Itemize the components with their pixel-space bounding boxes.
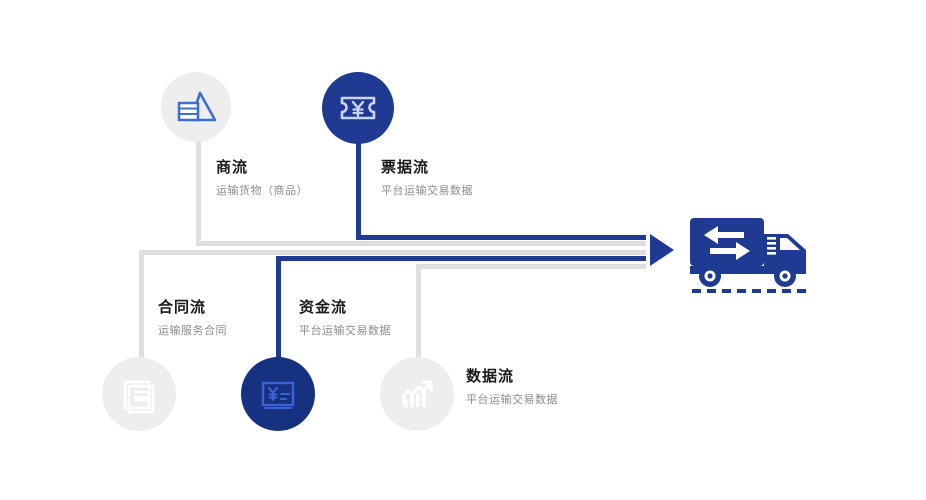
- capital-flow-subtitle: 平台运输交易数据: [299, 322, 391, 340]
- connector-bill-horizontal: [356, 235, 646, 240]
- commerce-flow-circle[interactable]: [161, 72, 231, 142]
- contract-flow-subtitle: 运输服务合同: [158, 322, 227, 340]
- contract-flow-label: 合同流 运输服务合同: [158, 298, 227, 340]
- capital-flow-title: 资金流: [299, 298, 391, 318]
- cargo-triangle-icon: [174, 85, 218, 129]
- data-flow-circle[interactable]: [380, 357, 454, 431]
- connector-capital-horizontal: [276, 256, 646, 261]
- diagram-canvas: 商流 运输货物（商品） 票据流 平台运输交易数据: [0, 0, 926, 500]
- flow-arrowhead-icon: [650, 234, 674, 266]
- connector-contract-horizontal: [139, 250, 646, 255]
- node-transport-truck[interactable]: [688, 212, 816, 298]
- data-flow-label: 数据流 平台运输交易数据: [466, 367, 558, 409]
- bill-flow-circle[interactable]: [322, 72, 394, 144]
- documents-icon: [116, 371, 162, 417]
- data-flow-subtitle: 平台运输交易数据: [466, 391, 558, 409]
- commerce-flow-subtitle: 运输货物（商品）: [216, 182, 308, 200]
- connector-bill-vertical: [356, 132, 361, 240]
- capital-flow-circle[interactable]: [241, 357, 315, 431]
- data-flow-title: 数据流: [466, 367, 558, 387]
- commerce-flow-label: 商流 运输货物（商品）: [216, 158, 308, 200]
- payment-card-yuan-icon: [255, 371, 301, 417]
- delivery-truck-icon: [688, 212, 816, 298]
- contract-flow-title: 合同流: [158, 298, 227, 318]
- bill-flow-title: 票据流: [381, 158, 473, 178]
- connector-commerce-vertical: [196, 140, 201, 246]
- contract-flow-circle[interactable]: [102, 357, 176, 431]
- connector-commerce-horizontal: [196, 241, 646, 246]
- growth-chart-icon: [394, 371, 440, 417]
- bill-flow-label: 票据流 平台运输交易数据: [381, 158, 473, 200]
- ticket-yuan-icon: [335, 85, 381, 131]
- bill-flow-subtitle: 平台运输交易数据: [381, 182, 473, 200]
- capital-flow-label: 资金流 平台运输交易数据: [299, 298, 391, 340]
- commerce-flow-title: 商流: [216, 158, 308, 178]
- connector-data-horizontal: [416, 264, 646, 269]
